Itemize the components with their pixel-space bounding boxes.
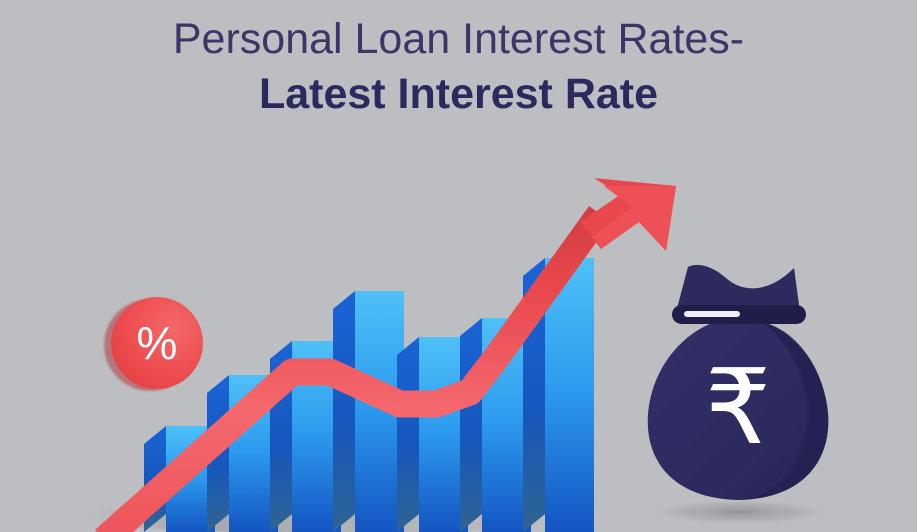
infographic-canvas: Personal Loan Interest Rates- Latest Int… [0,0,917,532]
rupee-symbol: ₹ [705,350,771,466]
bar-5 [397,337,468,532]
percent-icon: % [111,297,203,389]
money-bag: ₹ [648,265,832,525]
bar-chart-illustration: ₹ [0,0,917,532]
money-bag-neck [676,265,800,312]
money-bag-tie-highlight [684,311,740,317]
percent-badge: % [111,297,203,389]
money-bag-shadow [648,499,832,525]
